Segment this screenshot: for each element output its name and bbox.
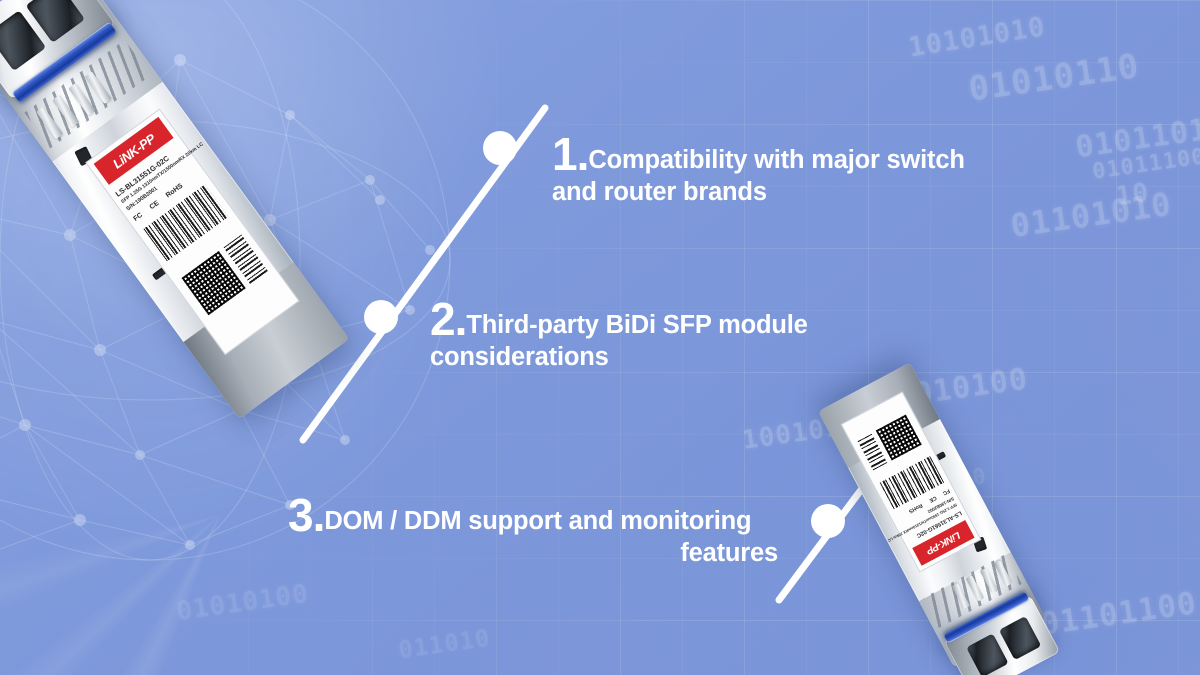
label-cert-fc: FC xyxy=(942,487,951,496)
feature-item-2: 2.Third-party BiDi SFP module considerat… xyxy=(430,296,850,373)
feature-number-3: 3. xyxy=(288,489,324,541)
feature-text-2-line1: Third-party BiDi SFP module xyxy=(466,311,807,339)
feature-number-1: 1. xyxy=(552,128,588,180)
binary-text-10: 011010 xyxy=(397,624,493,665)
binary-text-2: 01011010 xyxy=(1073,110,1200,166)
label-barcode xyxy=(879,456,944,510)
connector-dot-3 xyxy=(811,504,845,538)
sfp-module-upper-left: LiNK-PP LS-BL31551G-02C SFP 1.25G 1310nm… xyxy=(0,0,349,419)
binary-text-1: 01010110 xyxy=(966,46,1142,110)
feature-text-1-line1: Compatibility with major switch xyxy=(588,146,964,174)
label-cert-ce: CE xyxy=(149,200,161,211)
infographic-canvas: 10101010 01010110 01011010 01011100 10 0… xyxy=(0,0,1200,675)
binary-text-8: 01101100 xyxy=(1038,585,1199,643)
label-cert-ce: CE xyxy=(928,494,937,503)
feature-item-3: 3.DOM / DDM support and monitoring featu… xyxy=(288,492,778,569)
connector-dot-2 xyxy=(364,300,398,334)
light-rays xyxy=(0,135,600,675)
binary-text-9: 01010100 xyxy=(175,579,311,627)
sfp-module-lower-right: LiNK-PP LS-AL31561G-02C SFP 1.25G 1550nm… xyxy=(818,363,1046,668)
feature-text-2-line2: considerations xyxy=(430,342,850,373)
feature-text-1-line2: and router brands xyxy=(552,177,1007,208)
binary-text-4: 10 xyxy=(1114,178,1151,212)
label-barcode xyxy=(143,184,228,261)
label-cert-fc: FC xyxy=(132,212,144,223)
connector-line-1-2 xyxy=(303,108,545,440)
feature-number-2: 2. xyxy=(430,293,466,345)
feature-text-3-line2: features xyxy=(288,538,778,569)
label-cert-rohs: RoHS xyxy=(165,183,185,200)
binary-text-3: 01011100 xyxy=(1091,144,1200,185)
binary-text-5: 01101010 xyxy=(1008,185,1174,245)
connector-dot-1 xyxy=(483,131,517,165)
label-cert-rohs: RoHS xyxy=(908,502,924,514)
binary-text-0: 10101010 xyxy=(906,11,1047,63)
feature-item-1: 1.Compatibility with major switch and ro… xyxy=(552,131,1007,208)
feature-text-3-line1: DOM / DDM support and monitoring xyxy=(324,507,751,535)
